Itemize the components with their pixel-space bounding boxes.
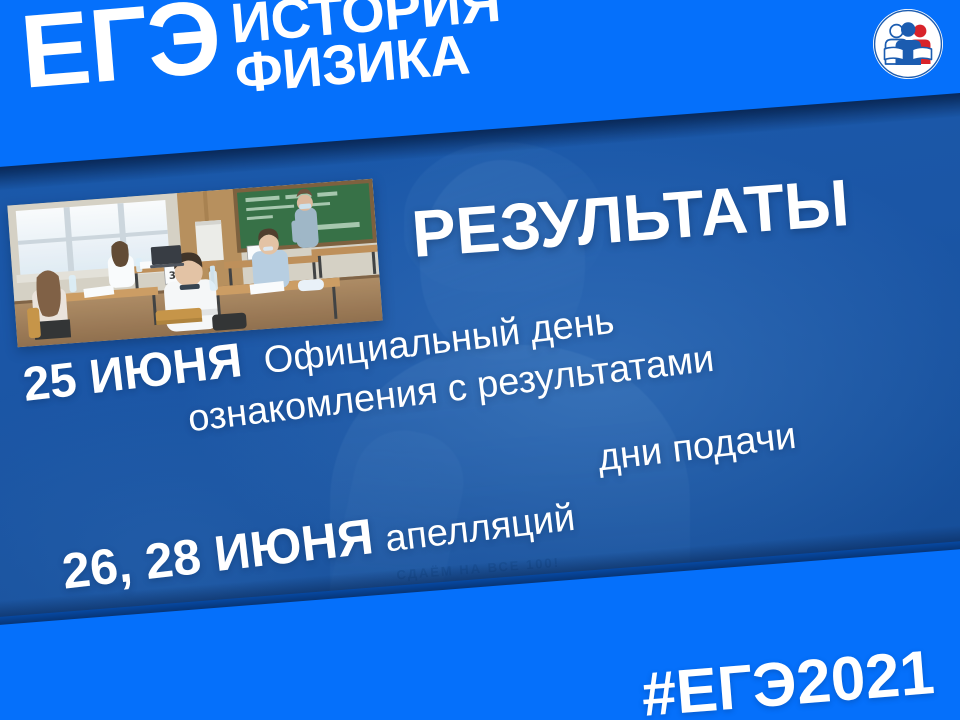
brand-row: ЕГЭ ИСТОРИЯ ФИЗИКА (17, 0, 506, 117)
rosobrnadzor-three-figures-icon (872, 8, 944, 80)
brand-title-ege: ЕГЭ (17, 0, 223, 102)
subject-physics: ФИЗИКА (233, 27, 506, 99)
subject-list: ИСТОРИЯ ФИЗИКА (229, 0, 506, 99)
header-content: ЕГЭ ИСТОРИЯ ФИЗИКА (0, 0, 960, 175)
poster-root: СДАЁМ НА ВСЕ 100! ЕДИНЫЙ ГОСУДАРСТВЕННЫЙ… (0, 0, 960, 720)
